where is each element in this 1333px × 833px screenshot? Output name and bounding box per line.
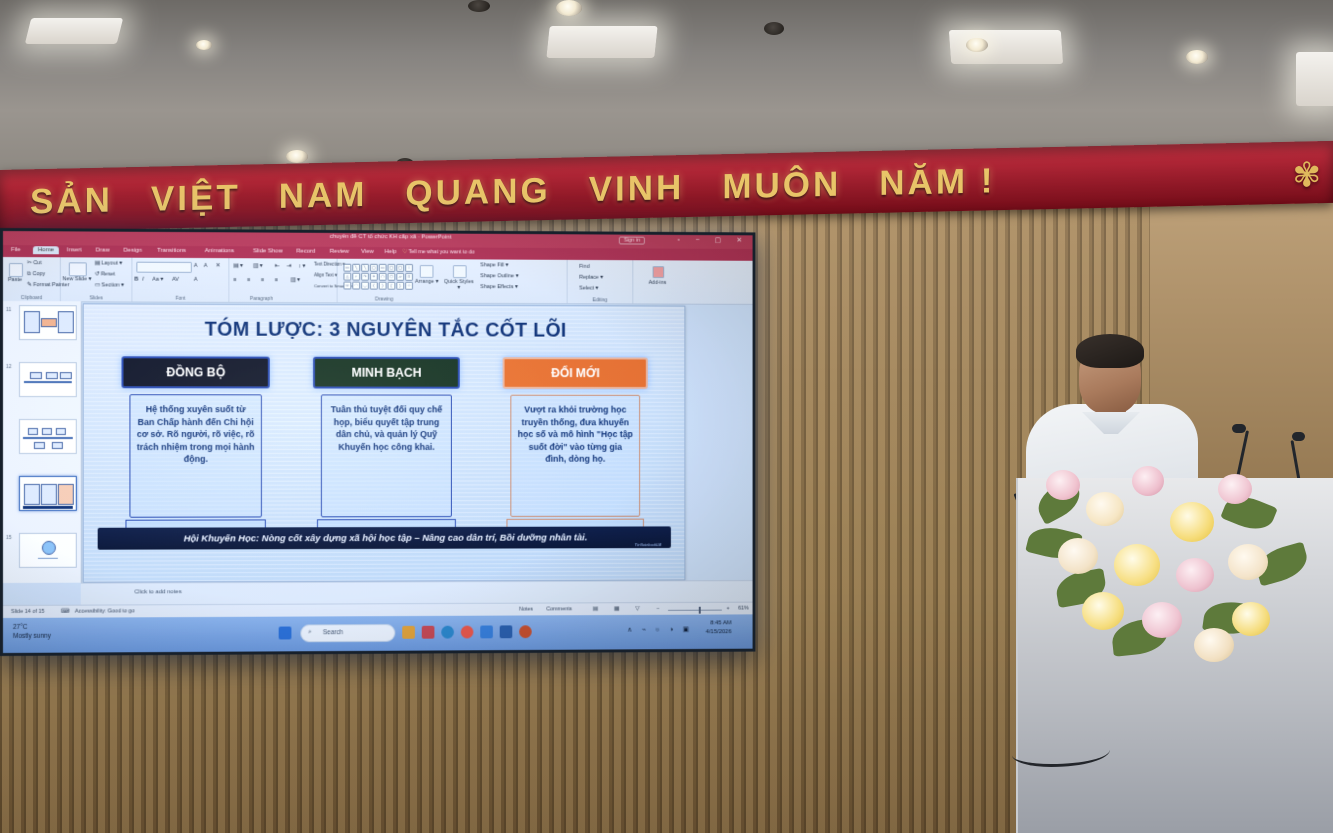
- pillar-body: Hệ thống xuyên suốt từ Ban Chấp hành đến…: [129, 394, 261, 518]
- shape-item[interactable]: }: [396, 282, 404, 290]
- align-left-button[interactable]: ≡: [233, 277, 236, 283]
- conference-hall-photo: SẢN VIỆT NAM QUANG VINH MUÔN NĂM ! ✾ chu…: [0, 0, 1333, 833]
- shape-outline-button[interactable]: Shape Outline ▾: [480, 273, 518, 279]
- ceiling-downlight: [196, 40, 212, 50]
- slide-thumbnail[interactable]: [19, 419, 77, 454]
- quick-styles-button[interactable]: Quick Styles ▾: [443, 279, 474, 291]
- ceiling-downlight: [286, 150, 308, 163]
- shape-item[interactable]: ⇨: [343, 282, 351, 290]
- thumbnail-number: 15: [6, 535, 12, 541]
- banner-word: QUANG: [405, 171, 550, 214]
- flower-yellow: [1232, 602, 1270, 636]
- flower-pink: [1176, 558, 1214, 592]
- tab-help[interactable]: Help: [385, 249, 397, 255]
- shape-item[interactable]: ▢: [370, 264, 378, 272]
- shape-item[interactable]: {: [388, 282, 396, 290]
- tab-animations[interactable]: Animations: [205, 248, 234, 254]
- thumb-shape: [46, 372, 58, 379]
- find-button[interactable]: Find: [579, 264, 589, 270]
- thumb-shape: [24, 311, 40, 333]
- app-icon-word[interactable]: [500, 625, 513, 638]
- shape-item[interactable]: ✧: [370, 273, 378, 281]
- powerpoint-window: chuyên đề CT tổ chức KH cấp xã · PowerPo…: [3, 231, 753, 653]
- zoom-in-button[interactable]: +: [726, 606, 729, 612]
- thumb-shape: [34, 442, 45, 449]
- shape-item[interactable]: ⌐: [352, 273, 360, 281]
- slide-thumbnail[interactable]: [19, 305, 77, 340]
- addins-button[interactable]: Add-ins: [643, 280, 672, 286]
- tab-draw[interactable]: Draw: [96, 248, 110, 254]
- flower-pink: [1142, 602, 1182, 638]
- weather-desc: Mostly sunny: [13, 632, 51, 641]
- text-shadow-button[interactable]: AV: [172, 277, 179, 283]
- ceiling-downlight: [1186, 50, 1208, 64]
- pillar-dong-bo: ĐỒNG BỘ Hệ thống xuyên suốt từ Ban Chấp …: [122, 356, 270, 528]
- align-center-button[interactable]: ≡: [247, 277, 250, 283]
- bullets-button[interactable]: ▤ ▾: [233, 263, 242, 269]
- addins-icon: [653, 266, 665, 278]
- new-slide-icon: [69, 262, 87, 276]
- slide-footer-banner: Hội Khuyến Học: Nòng cốt xây dựng xã hội…: [98, 526, 671, 549]
- clock-date: 4/15/2026: [706, 628, 732, 637]
- shape-item[interactable]: ↷: [361, 273, 369, 281]
- comments-button[interactable]: Comments: [546, 606, 572, 612]
- tab-slide-show[interactable]: Slide Show: [253, 248, 283, 254]
- document-title: chuyên đề CT tổ chức KH cấp xã · PowerPo…: [330, 234, 452, 241]
- new-slide-button[interactable]: New Slide ▾: [61, 276, 93, 282]
- system-tray-icons[interactable]: ∧ ⌁ ⌾ ◑ ▣: [627, 625, 693, 634]
- lotus-icon: ✾: [1293, 155, 1322, 196]
- pillar-heading: ĐỔI MỚI: [503, 357, 648, 389]
- microphone-head-2: [1292, 432, 1305, 441]
- replace-button[interactable]: Replace ▾: [579, 275, 603, 281]
- tab-transitions[interactable]: Transitions: [157, 248, 186, 254]
- pillar-heading: MINH BẠCH: [313, 357, 460, 389]
- notes-placeholder: Click to add notes: [134, 589, 181, 595]
- view-reading-button[interactable]: ▽: [635, 606, 639, 612]
- arrange-icon: [420, 265, 434, 278]
- slide-footer-text: Hội Khuyến Học: Nòng cốt xây dựng xã hội…: [184, 532, 588, 544]
- tab-insert[interactable]: Insert: [67, 247, 82, 253]
- tab-record[interactable]: Record: [296, 249, 315, 255]
- app-icon-store[interactable]: [422, 626, 435, 639]
- tab-review[interactable]: Review: [330, 249, 349, 255]
- tab-home[interactable]: Home: [33, 246, 59, 254]
- tab-view[interactable]: View: [361, 249, 374, 255]
- thumb-shape: [41, 318, 57, 327]
- banner-word: MUÔN: [722, 165, 841, 208]
- layout-button[interactable]: ▤ Layout ▾: [95, 260, 122, 266]
- ribbon-group-drawing: ▭╲ ╲▢ ▭◯ ◯⌷ △⌐ ↷✧ ⬠⬡ ▱⌸ ⇨◠ ◡( ){ }☆ Arra…: [338, 259, 568, 303]
- search-placeholder: Search: [323, 629, 343, 636]
- thumb-shape: [42, 428, 52, 435]
- thumb-shape: [58, 484, 74, 505]
- windows-taskbar: 27°C Mostly sunny ⌕ Search ∧ ⌁ ⌾ ◑ ▣ 8:4…: [3, 614, 753, 653]
- clock-time: 8:45 AM: [706, 619, 732, 628]
- shape-fill-button[interactable]: Shape Fill ▾: [480, 262, 508, 268]
- columns-button[interactable]: ▥ ▾: [290, 277, 299, 283]
- thumb-shape: [56, 428, 66, 435]
- pillar-doi-moi: ĐỔI MỚI Vượt ra khỏi trường học truyền t…: [503, 357, 648, 528]
- pillar-heading-label: MINH BẠCH: [352, 366, 422, 380]
- thumbnail-number: 12: [6, 364, 12, 370]
- ribbon-group-editing: Find Replace ▾ Select ▾ Editing: [568, 260, 634, 304]
- shape-item[interactable]: ⬡: [388, 273, 396, 281]
- section-button[interactable]: ▭ Section ▾: [95, 282, 124, 288]
- shape-item[interactable]: ╲: [352, 264, 360, 272]
- bold-button[interactable]: B: [134, 277, 138, 283]
- zoom-out-button[interactable]: −: [656, 606, 659, 612]
- view-normal-button[interactable]: ▤: [593, 606, 598, 612]
- flower-cream: [1194, 628, 1234, 662]
- select-button[interactable]: Select ▾: [579, 286, 598, 292]
- font-name-box: [136, 262, 191, 273]
- ribbon-group-slides: New Slide ▾ ▤ Layout ▾ ↺ Reset ▭ Section…: [61, 257, 133, 301]
- slide-thumbnail-selected[interactable]: [19, 476, 77, 511]
- watermark: Từ NotebookLM: [635, 543, 662, 547]
- grow-font-button[interactable]: A: [194, 263, 198, 269]
- slide-thumbnail[interactable]: [19, 362, 77, 397]
- zoom-level[interactable]: 61%: [738, 606, 749, 612]
- ceiling-downlight: [556, 0, 582, 16]
- app-icon-edge[interactable]: [441, 626, 454, 639]
- ribbon-group-clipboard: Paste ✂ Cut ⧉ Copy ✎ Format Painter Clip…: [3, 257, 61, 301]
- ceiling-light-panel: [1296, 52, 1333, 106]
- thumb-shape: [52, 442, 63, 449]
- pillar-heading-label: ĐỒNG BỘ: [166, 365, 225, 379]
- cut-button[interactable]: ✂ Cut: [27, 260, 42, 266]
- flower-cream: [1086, 492, 1124, 526]
- thumb-caption: [38, 558, 58, 559]
- ceiling-downlight: [966, 38, 988, 52]
- ceiling-light-panel: [546, 26, 657, 58]
- flower-pink: [1046, 470, 1080, 500]
- shape-item[interactable]: ▭: [379, 264, 387, 272]
- ceiling-light-panel: [25, 18, 123, 44]
- flower-pink: [1132, 466, 1164, 496]
- weather-widget[interactable]: 27°C Mostly sunny: [13, 623, 51, 641]
- slide-title: TÓM LƯỢC: 3 NGUYÊN TẮC CỐT LÕI: [84, 318, 685, 343]
- app-icon-powerpoint[interactable]: [519, 625, 532, 638]
- shape-item[interactable]: ⌷: [405, 264, 413, 272]
- sign-in-button[interactable]: Sign in: [619, 237, 645, 245]
- banner-word: NĂM !: [879, 161, 995, 204]
- thumbnail-number: 11: [6, 307, 11, 313]
- flower-yellow: [1082, 592, 1124, 630]
- shape-item[interactable]: ◡: [361, 282, 369, 290]
- zoom-slider-track[interactable]: [668, 610, 722, 611]
- start-button-icon[interactable]: [279, 627, 292, 640]
- thumb-shape: [28, 428, 38, 435]
- view-sorter-button[interactable]: ▦: [614, 606, 619, 612]
- pillar-heading-label: ĐỔI MỚI: [551, 366, 600, 380]
- justify-button[interactable]: ≡: [275, 277, 278, 283]
- pillar-minh-bach: MINH BẠCH Tuân thủ tuyệt đối quy chế họp…: [313, 357, 460, 529]
- microphone-head: [1232, 424, 1246, 433]
- paste-button[interactable]: Paste: [5, 277, 25, 283]
- app-icon-explorer[interactable]: [402, 626, 415, 639]
- quick-styles-icon: [453, 265, 467, 278]
- zoom-slider-knob[interactable]: [699, 607, 701, 614]
- slide-thumbnail[interactable]: [19, 533, 77, 568]
- shape-item[interactable]: △: [343, 273, 351, 281]
- copy-button[interactable]: ⧉ Copy: [27, 271, 45, 278]
- font-size-box[interactable]: Aa ▾: [152, 277, 163, 283]
- pillar-body: Tuân thủ tuyệt đối quy chế họp, biểu quy…: [321, 394, 452, 517]
- banner-word: NAM: [279, 175, 368, 217]
- font-color-button[interactable]: A: [194, 277, 198, 283]
- line-spacing-button[interactable]: ↕ ▾: [298, 263, 305, 269]
- projection-screen: chuyên đề CT tổ chức KH cấp xã · PowerPo…: [0, 228, 755, 656]
- search-icon: ⌕: [308, 628, 312, 636]
- flower-cream: [1058, 538, 1098, 574]
- banner-word: SẢN: [30, 181, 113, 223]
- shape-item[interactable]: (: [370, 282, 378, 290]
- align-text-button[interactable]: Align Text ▾: [314, 272, 337, 278]
- flower-cream: [1228, 544, 1268, 580]
- paste-icon: [9, 263, 23, 277]
- tab-design[interactable]: Design: [123, 248, 142, 254]
- shape-item[interactable]: ◯: [396, 264, 404, 272]
- slide-thumbnail-pane[interactable]: 11 12: [3, 301, 82, 583]
- banner-word: VIỆT: [151, 178, 241, 220]
- ceiling-downlight-off: [764, 22, 784, 35]
- slide-canvas[interactable]: TÓM LƯỢC: 3 NGUYÊN TẮC CỐT LÕI ĐỒNG BỘ H…: [83, 303, 686, 582]
- increase-indent-button[interactable]: ⇥: [287, 263, 292, 269]
- ribbon-group-addins: Add-ins: [633, 260, 681, 303]
- shape-item[interactable]: ▱: [396, 273, 404, 281]
- reset-button[interactable]: ↺ Reset: [95, 271, 115, 277]
- thumb-shape: [60, 372, 72, 379]
- align-right-button[interactable]: ≡: [261, 277, 264, 283]
- ribbon: Paste ✂ Cut ⧉ Copy ✎ Format Painter Clip…: [3, 257, 753, 305]
- numbering-button[interactable]: ▥ ▾: [253, 263, 262, 269]
- flower-arrangement: [1028, 452, 1328, 706]
- pillar-body: Vượt ra khỏi trường học truyền thống, đư…: [510, 395, 640, 517]
- editing-group-label: Editing: [568, 297, 633, 303]
- flower-pink: [1218, 474, 1252, 504]
- shape-item[interactable]: ): [379, 282, 387, 290]
- ceiling-downlight-off: [468, 0, 490, 12]
- italic-button[interactable]: I: [142, 277, 144, 283]
- speaker-hair: [1076, 334, 1144, 368]
- tab-file[interactable]: File: [11, 247, 21, 253]
- shape-item[interactable]: ⬠: [379, 273, 387, 281]
- thumb-shape: [30, 372, 42, 379]
- clear-formatting-button[interactable]: ✕: [216, 263, 221, 269]
- shape-effects-button[interactable]: Shape Effects ▾: [480, 284, 517, 290]
- thumb-timeline: [24, 381, 72, 383]
- shape-item[interactable]: ◯: [388, 264, 396, 272]
- thumb-shape: [41, 484, 57, 505]
- arrange-button[interactable]: Arrange ▾: [412, 279, 441, 285]
- tell-me-label: Tell me what you want to do: [408, 249, 474, 255]
- thumb-footer: [23, 506, 73, 509]
- decrease-indent-button[interactable]: ⇤: [275, 263, 280, 269]
- taskbar-clock[interactable]: 8:45 AM 4/15/2026: [706, 619, 732, 637]
- notes-button[interactable]: Notes: [519, 607, 533, 613]
- accessibility-status[interactable]: Accessibility: Good to go: [75, 608, 135, 614]
- shape-item[interactable]: ◠: [352, 282, 360, 290]
- flower-yellow: [1170, 502, 1214, 542]
- slide-counter: Slide 14 of 15: [11, 609, 45, 615]
- thumb-shape: [24, 484, 40, 505]
- app-icon-zalo[interactable]: [480, 625, 493, 638]
- window-controls[interactable]: ▫ − ▢ ✕: [678, 236, 749, 244]
- weather-temp: 27°C: [13, 623, 51, 632]
- thumb-logo: [42, 541, 56, 555]
- banner-word: VINH: [589, 168, 685, 210]
- thumb-shape: [58, 311, 74, 333]
- language-icon[interactable]: ⌨: [61, 609, 69, 615]
- tell-me-search[interactable]: ♡ Tell me what you want to do: [402, 249, 474, 255]
- thumb-timeline: [23, 437, 73, 439]
- pillar-heading: ĐỒNG BỘ: [122, 356, 270, 388]
- shapes-gallery[interactable]: ▭╲ ╲▢ ▭◯ ◯⌷ △⌐ ↷✧ ⬠⬡ ▱⌸ ⇨◠ ◡( ){ }☆: [343, 264, 406, 290]
- app-icon-chrome[interactable]: [461, 626, 474, 639]
- drawing-group-label: Drawing: [269, 296, 499, 303]
- shape-item[interactable]: ╲: [361, 264, 369, 272]
- shape-item[interactable]: ▭: [343, 264, 351, 272]
- shrink-font-button[interactable]: A: [204, 263, 208, 269]
- flower-yellow: [1114, 544, 1160, 586]
- taskbar-search[interactable]: ⌕ Search: [300, 624, 395, 642]
- lightbulb-icon: ♡: [402, 249, 407, 255]
